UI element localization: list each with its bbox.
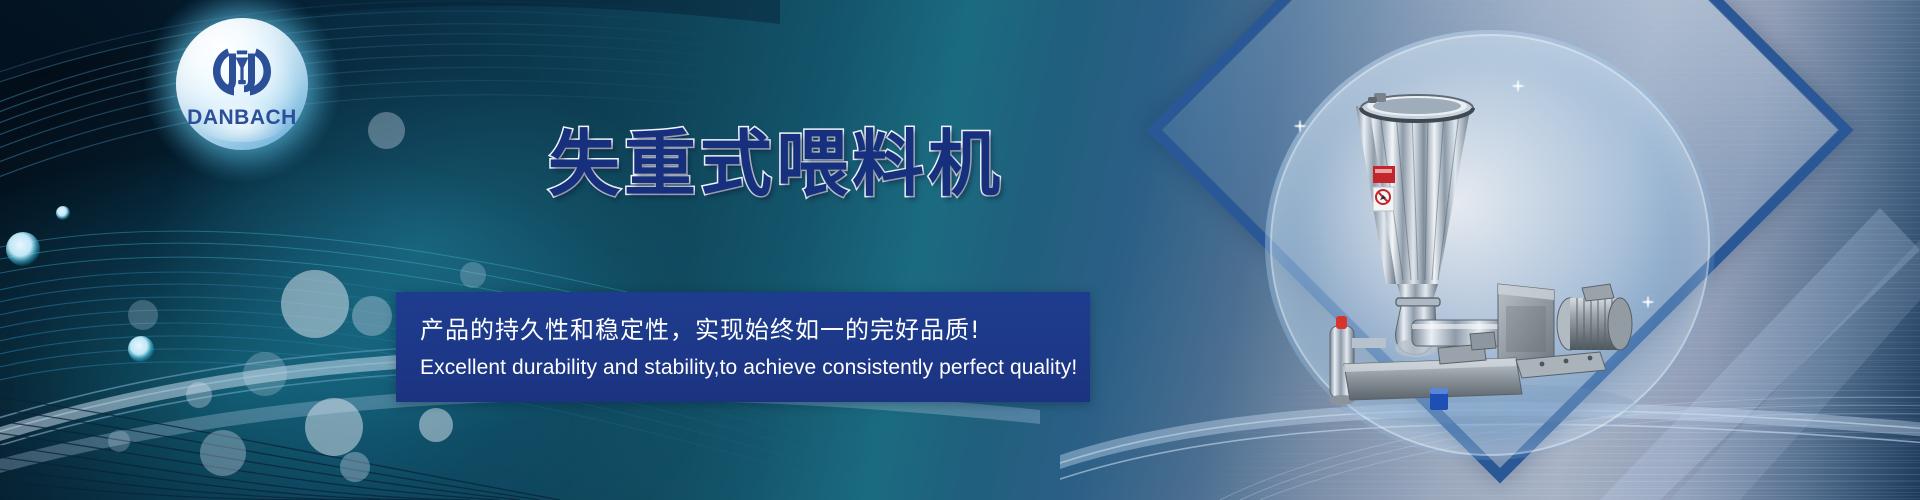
product-showcase <box>1080 0 1920 500</box>
tagline-chinese: 产品的持久性和稳定性，实现始终如一的完好品质! <box>420 310 981 345</box>
loss-in-weight-feeder-photo[interactable] <box>1270 48 1700 458</box>
logo-content: DANBACH <box>176 18 308 150</box>
brand-name: DANBACH <box>187 107 297 128</box>
product-banner: DANBACH 失重式喂料机 产品的持久性和稳定性，实现始终如一的完好品质! E… <box>0 0 1920 500</box>
brand-logo[interactable]: DANBACH <box>176 18 308 150</box>
page-title: 失重式喂料机 <box>548 128 1004 200</box>
danbach-emblem-icon <box>205 40 279 106</box>
tagline-box: 产品的持久性和稳定性，实现始终如一的完好品质! Excellent durabi… <box>396 292 1090 402</box>
tagline-english: Excellent durability and stability,to ac… <box>420 356 1077 380</box>
